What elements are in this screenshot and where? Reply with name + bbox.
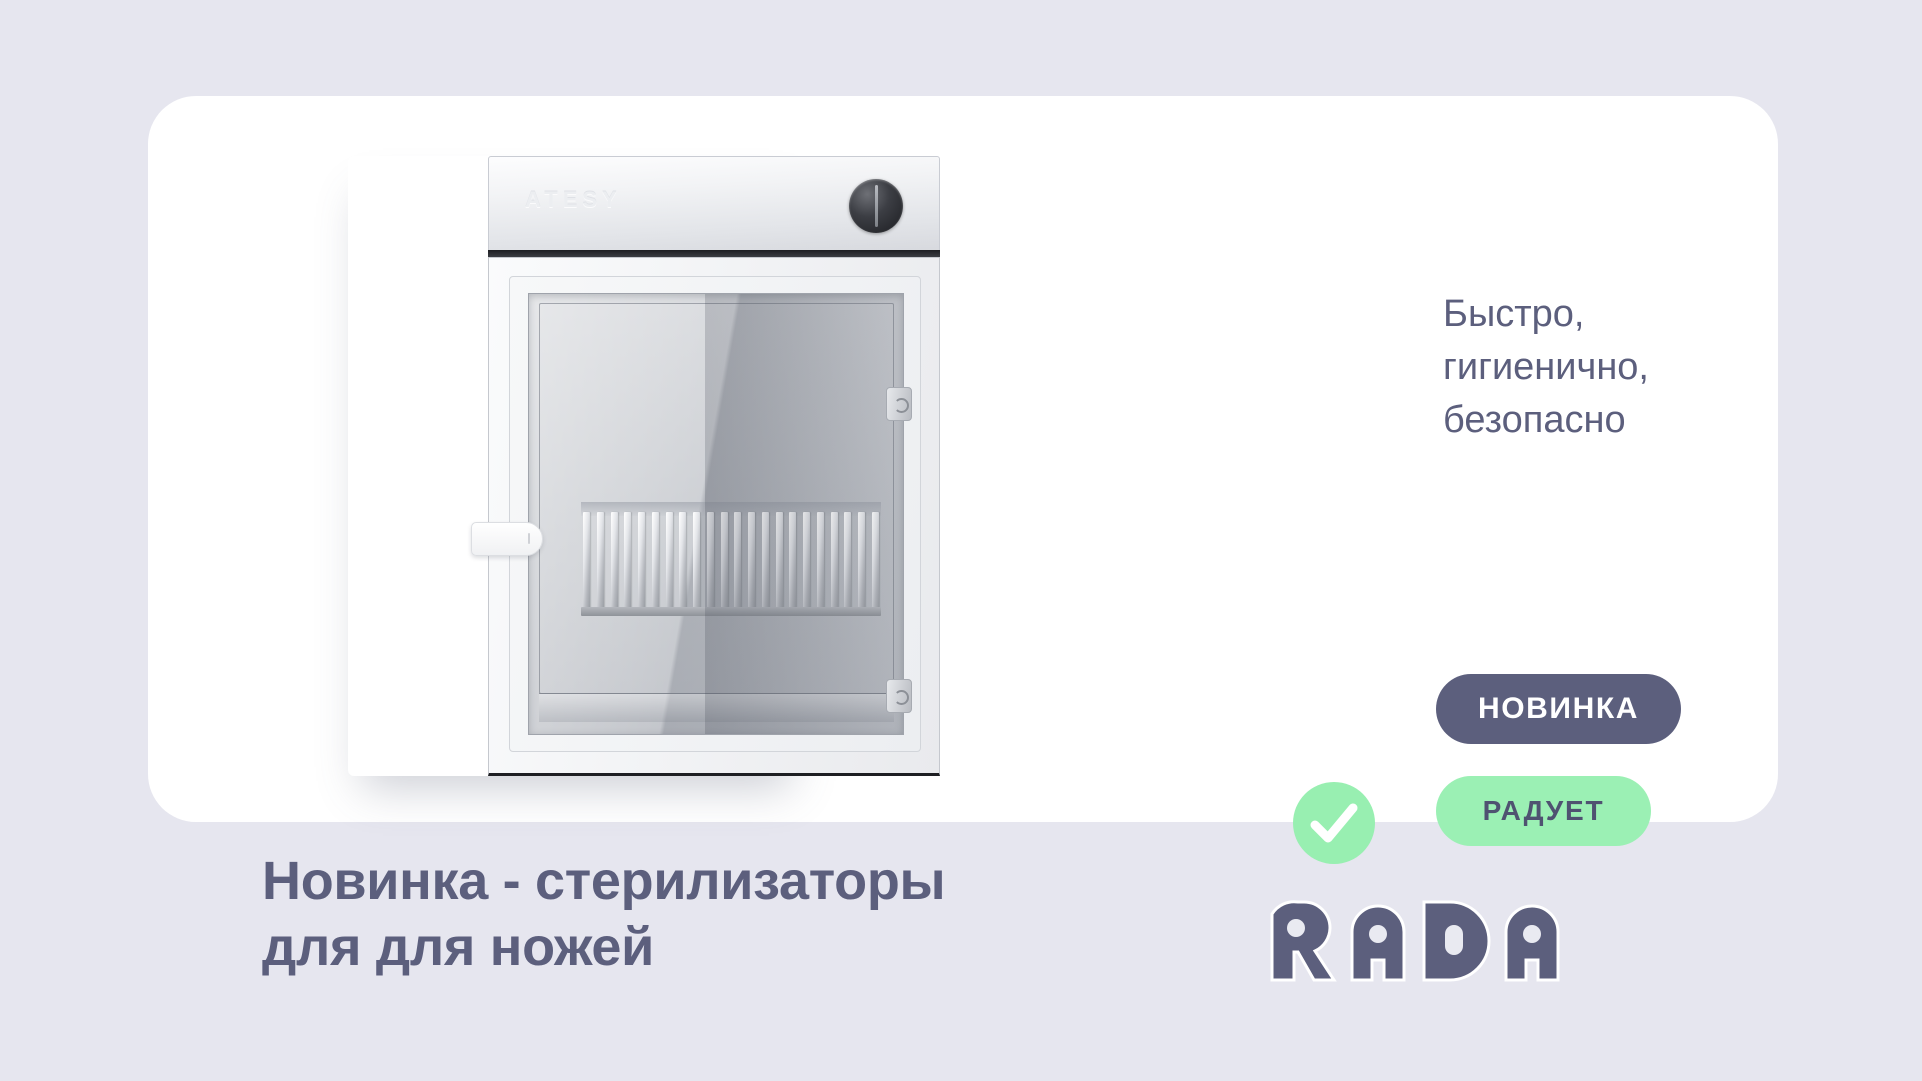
cabinet-floor-shelf (539, 693, 894, 722)
rack-fin (817, 512, 824, 608)
rack-fin (844, 512, 851, 608)
rack-fin (831, 512, 838, 608)
door-handle (471, 522, 543, 556)
badge-raduet-label: РАДУЕТ (1483, 795, 1605, 827)
rack-fin (776, 512, 783, 608)
check-badge (1293, 782, 1375, 864)
control-knob-icon (849, 179, 903, 233)
rack-base (581, 607, 881, 616)
rack-fin (762, 512, 769, 608)
check-icon (1293, 782, 1375, 864)
rack-fin (583, 512, 590, 608)
page-title: Новинка - стерилизаторы для для ножей (262, 848, 1162, 980)
rack-fin (611, 512, 618, 608)
rack-fin (734, 512, 741, 608)
rack-fin (789, 512, 796, 608)
door-inner-lip (539, 303, 894, 694)
rack-fin (803, 512, 810, 608)
rack-fin (624, 512, 631, 608)
badge-raduet: РАДУЕТ (1436, 776, 1651, 846)
rack-fin (748, 512, 755, 608)
tagline-text: Быстро, гигиенично, безопасно (1443, 288, 1863, 447)
rack-fin (858, 512, 865, 608)
rack-fin (638, 512, 645, 608)
rack-fin (707, 512, 714, 608)
cabinet-control-panel: ATESY (488, 156, 940, 252)
rack-fin (652, 512, 659, 608)
brand-logo-rada (1268, 898, 1578, 984)
door-hinge-top-icon (886, 387, 912, 421)
rack-fin (679, 512, 686, 608)
rack-fin (597, 512, 604, 608)
badge-novinka: НОВИНКА (1436, 674, 1681, 744)
panel-embossed-logo: ATESY (525, 187, 622, 213)
rada-wordmark-icon (1268, 898, 1578, 984)
rack-fin (872, 512, 879, 608)
hero-card: ATESY Быс (148, 96, 1778, 822)
rack-fin (693, 512, 700, 608)
cabinet-glass-door (528, 293, 904, 735)
knife-rack (581, 512, 881, 616)
cabinet-door-frame (509, 276, 921, 752)
rack-fins (583, 512, 879, 608)
product-image-sterilizer-cabinet: ATESY (340, 126, 810, 786)
panel-bottom-edge (488, 250, 940, 257)
rack-fin (721, 512, 728, 608)
door-hinge-bottom-icon (886, 679, 912, 713)
rack-fin (666, 512, 673, 608)
cabinet-body (488, 257, 940, 776)
badge-novinka-label: НОВИНКА (1478, 692, 1639, 726)
